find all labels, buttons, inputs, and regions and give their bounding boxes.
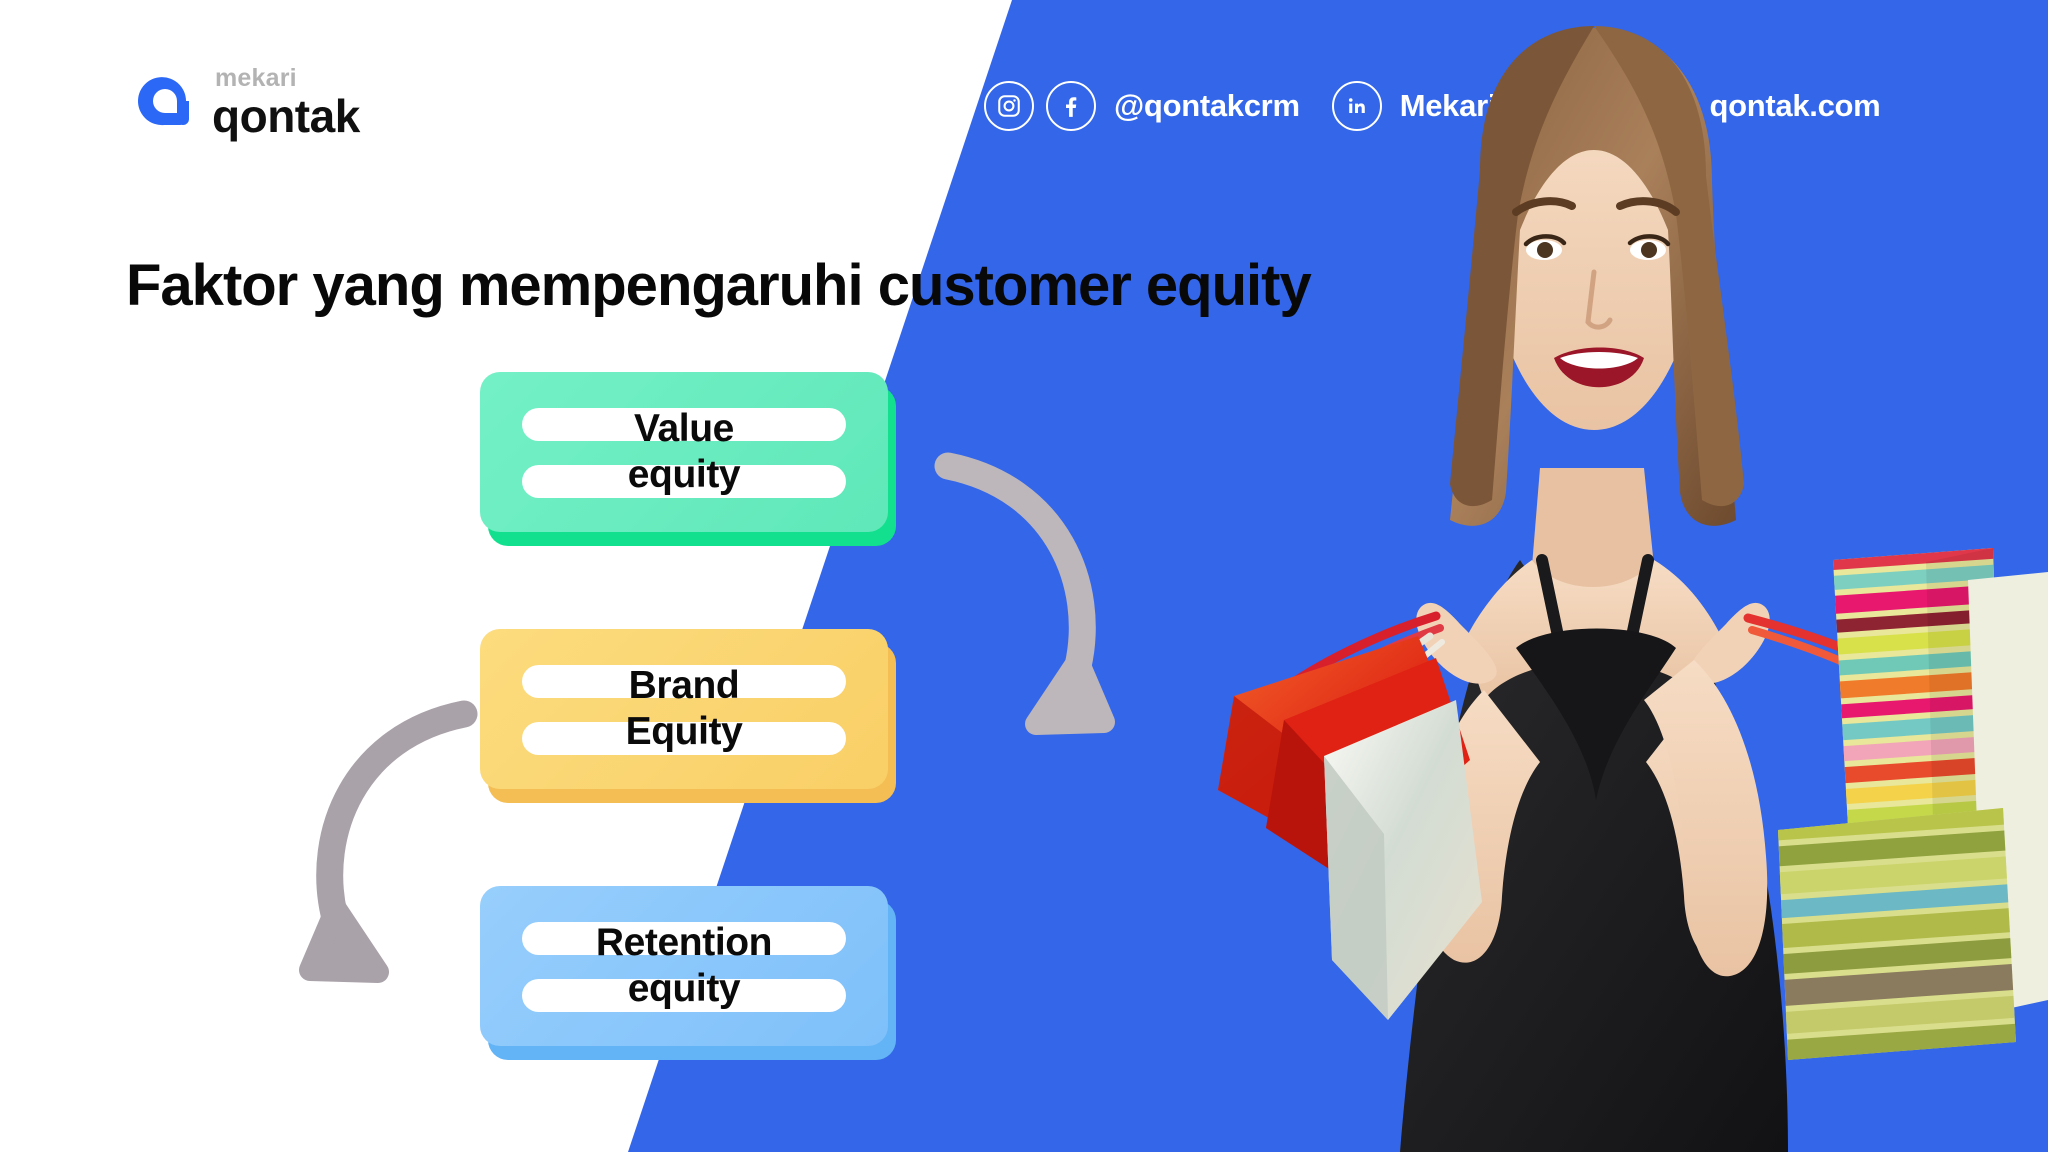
qontak-swirl-icon xyxy=(134,71,198,135)
card-label-line1: Brand xyxy=(629,663,740,709)
card-value-equity[interactable]: Value equity xyxy=(480,372,888,532)
card-label: Retention equity xyxy=(480,886,888,1046)
mekari-qontak-logo[interactable]: mekari qontak xyxy=(134,66,360,139)
logo-text-qontak: qontak xyxy=(212,93,360,139)
arrow-brand-to-retention-icon xyxy=(296,684,506,1014)
card-label-line1: Retention xyxy=(596,920,772,966)
card-label-line2: Equity xyxy=(626,709,743,755)
card-retention-equity[interactable]: Retention equity xyxy=(480,886,888,1046)
card-brand-equity[interactable]: Brand Equity xyxy=(480,629,888,789)
logo-text-mekari: mekari xyxy=(215,66,360,91)
woman-with-shopping-bags-photo xyxy=(1088,0,2048,1152)
card-label-line2: equity xyxy=(628,452,740,498)
card-label-line2: equity xyxy=(628,966,740,1012)
card-label-line1: Value xyxy=(634,406,734,452)
card-label: Value equity xyxy=(480,372,888,532)
card-label: Brand Equity xyxy=(480,629,888,789)
infographic-canvas: mekari qontak @qontakcrm xyxy=(0,0,2048,1152)
instagram-icon[interactable] xyxy=(984,81,1034,131)
